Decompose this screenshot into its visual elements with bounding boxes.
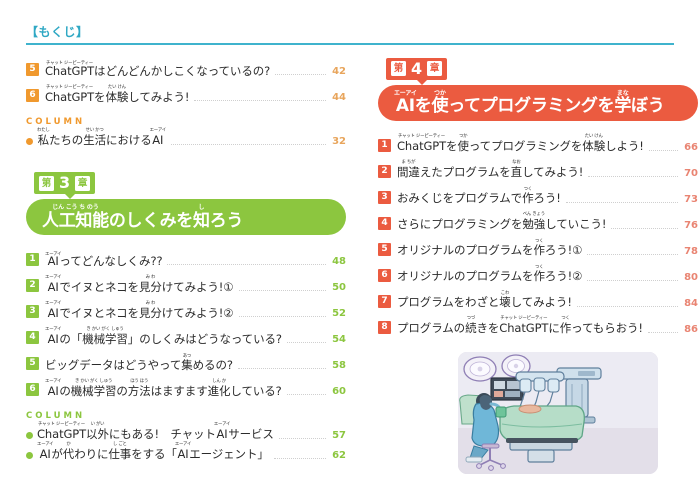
toc-entry[interactable]: 5 オリジナルのプログラムを作つくろう!① 78 (378, 236, 698, 259)
entry-title: オリジナルのプログラムを作つくろう!② (397, 265, 582, 285)
toc-entry[interactable]: 5 ChatGPTチャット ジーピーティーはどんどんかしこくなっているの? 42 (26, 56, 346, 79)
chapter-4-entry-list: 1 ChatGPTチャット ジーピーティーを使つかってプログラミングを体験たい … (378, 132, 698, 337)
leader-dots (648, 331, 678, 333)
toc-entry[interactable]: 2 AIエーアイでイヌとネコを見分み わけてみよう!① 50 (26, 272, 346, 295)
chapter-badge: 第 3 章 (34, 172, 95, 194)
entry-page-number: 84 (682, 299, 698, 311)
entry-title: プログラムの続つづきをChatGPTチャット ジーピーティーに作つくってもらおう… (397, 316, 643, 337)
entry-title: ChatGPTチャット ジーピーティーはどんどんかしこくなっているの? (45, 61, 270, 80)
entry-title: ビッグデータはどうやって集あつめるの? (45, 354, 233, 374)
toc-entry[interactable]: 1 ChatGPTチャット ジーピーティーを使つかってプログラミングを体験たい … (378, 132, 698, 155)
chapter-banner: 人工知能じん こう ち のうのしくみを知しろう (26, 199, 346, 235)
leader-dots (566, 201, 678, 203)
entry-title: 間違ま ちがえたプログラムを直なおしてみよう! (397, 160, 583, 181)
entry-title: ChatGPTチャット ジーピーティーを使つかってプログラミングを体験たい けん… (397, 134, 644, 155)
entry-number: 4 (26, 331, 39, 344)
entry-title: オリジナルのプログラムを作つくろう!① (397, 239, 582, 259)
entry-title: AIエーアイってどんなしくみ?? (45, 252, 162, 270)
entry-number: 2 (378, 165, 391, 178)
entry-number: 5 (26, 357, 39, 370)
entry-title: AIエーアイの機械学習き かい がく しゅうの方法ほう ほうはますます進化しん … (45, 379, 282, 400)
entry-number: 4 (378, 217, 391, 230)
entry-page-number: 58 (330, 361, 346, 373)
chapter-title: AIエーアイを使つかってプログラミングを学まなぼう (394, 90, 664, 115)
leader-dots (239, 289, 327, 291)
wall-monitor-icon (491, 378, 523, 400)
entry-page-number: 48 (330, 257, 346, 269)
column-entry[interactable]: ChatGPTチャット ジーピーティー以外い がいにもある! チャットAIエーア… (26, 424, 346, 443)
entry-number: 5 (378, 243, 391, 256)
entry-title: 私わたしたちの生活せい かつにおけるAIエーアイ (37, 128, 166, 149)
column-block-green: COLUMN ChatGPTチャット ジーピーティー以外い がいにもある! チャ… (26, 412, 346, 463)
toc-entry[interactable]: 6 オリジナルのプログラムを作つくろう!② 80 (378, 262, 698, 285)
toc-entry[interactable]: 2 間違ま ちがえたプログラムを直なおしてみよう! 70 (378, 158, 698, 181)
toc-entry[interactable]: 5 ビッグデータはどうやって集あつめるの? 58 (26, 350, 346, 373)
leader-dots (649, 149, 678, 151)
entry-page-number: 42 (330, 67, 346, 79)
toc-header: 【もくじ】 (26, 26, 674, 45)
entry-page-number: 70 (682, 169, 698, 181)
chapter-kanji-shou: 章 (75, 176, 90, 191)
entry-title: AIエーアイでイヌとネコを見分み わけてみよう!① (45, 275, 234, 296)
chapter-number: 3 (59, 175, 70, 191)
entry-page-number: 32 (330, 137, 346, 149)
toc-entry[interactable]: 8 プログラムの続つづきをChatGPTチャット ジーピーティーに作つくってもら… (378, 314, 698, 337)
entry-number: 3 (378, 191, 391, 204)
toc-entry[interactable]: 1 AIエーアイってどんなしくみ?? 48 (26, 246, 346, 269)
entry-page-number: 73 (682, 195, 698, 207)
column-label: COLUMN (26, 118, 346, 127)
chapter-kanji-dai: 第 (39, 176, 54, 191)
leader-dots (274, 457, 326, 459)
leader-dots (275, 73, 326, 75)
entry-page-number: 76 (682, 221, 698, 233)
leader-dots (194, 99, 326, 101)
leader-dots (577, 305, 678, 307)
leader-dots (587, 279, 678, 281)
entry-number: 2 (26, 279, 39, 292)
entry-page-number: 44 (330, 93, 346, 105)
bullet-icon (26, 452, 33, 459)
leader-dots (588, 175, 678, 177)
leader-dots (587, 253, 678, 255)
entry-title: プログラムをわざと壊こわしてみよう! (397, 291, 572, 311)
entry-number: 8 (378, 321, 391, 334)
toc-entry[interactable]: 3 AIエーアイでイヌとネコを見分み わけてみよう!② 52 (26, 298, 346, 321)
entry-number: 1 (26, 253, 39, 266)
leader-dots (167, 263, 326, 265)
leader-dots (287, 341, 326, 343)
chapter-block-4: 第 4 章 AIエーアイを使つかってプログラミングを学まなぼう 1 ChatGP… (378, 56, 698, 337)
entry-number: 6 (378, 269, 391, 282)
entry-title: ChatGPTチャット ジーピーティーを体験たい けんしてみよう! (45, 85, 189, 106)
entry-page-number: 86 (682, 325, 698, 337)
entry-title: おみくじをプログラムで作つくろう! (397, 187, 561, 207)
leader-dots (239, 315, 327, 317)
entry-page-number: 78 (682, 247, 698, 259)
column-entry[interactable]: 私わたしたちの生活せい かつにおけるAIエーアイ 32 (26, 130, 346, 149)
entry-number: 6 (26, 383, 39, 396)
toc-entry[interactable]: 7 プログラムをわざと壊こわしてみよう! 84 (378, 288, 698, 311)
entry-page-number: 57 (330, 431, 346, 443)
leader-dots (279, 437, 326, 439)
entry-page-number: 54 (330, 335, 346, 347)
toc-entry[interactable]: 6 AIエーアイの機械学習き かい がく しゅうの方法ほう ほうはますます進化し… (26, 376, 346, 399)
left-column: 5 ChatGPTチャット ジーピーティーはどんどんかしこくなっているの? 42… (26, 56, 346, 464)
chapter-3-entry-list: 1 AIエーアイってどんなしくみ?? 48 2 AIエーアイでイヌとネコを見分み… (26, 246, 346, 399)
chapter-block-3: 第 3 章 人工知能じん こう ち のうのしくみを知しろう 1 AIエーアイって… (26, 171, 346, 463)
entry-page-number: 50 (330, 283, 346, 295)
column-block-orange: COLUMN 私わたしたちの生活せい かつにおけるAIエーアイ 32 (26, 118, 346, 149)
entry-number: 6 (26, 89, 39, 102)
chapter-badge: 第 4 章 (386, 58, 447, 80)
entry-page-number: 66 (682, 143, 698, 155)
entry-title: AIエーアイでイヌとネコを見分み わけてみよう!② (45, 301, 234, 322)
entry-number: 5 (26, 63, 39, 76)
entry-number: 3 (26, 305, 39, 318)
entry-page-number: 52 (330, 309, 346, 321)
leader-dots (238, 367, 326, 369)
toc-entry[interactable]: 4 さらにプログラミングを勉強べん きょうしていこう! 76 (378, 210, 698, 233)
badge-pointer (416, 79, 428, 85)
entry-title: さらにプログラミングを勉強べん きょうしていこう! (397, 212, 606, 233)
entry-page-number: 60 (330, 387, 346, 399)
leader-dots (171, 143, 326, 145)
page-title: 【もくじ】 (26, 26, 674, 38)
chapter-number: 4 (411, 61, 422, 77)
toc-entry[interactable]: 3 おみくじをプログラムで作つくろう! 73 (378, 184, 698, 207)
chapter-kanji-dai: 第 (391, 61, 406, 76)
header-divider (26, 43, 674, 45)
entry-title: AIエーアイの「機械学習き かい がく しゅう」のしくみはどうなっている? (45, 327, 282, 348)
bullet-icon (26, 138, 33, 145)
continued-entry-list: 5 ChatGPTチャット ジーピーティーはどんどんかしこくなっているの? 42… (26, 56, 346, 105)
entry-page-number: 80 (682, 273, 698, 285)
surgical-robot-illustration (458, 352, 658, 474)
chapter-title: 人工知能じん こう ち のうのしくみを知しろう (42, 204, 243, 230)
toc-entry[interactable]: 4 AIエーアイの「機械学習き かい がく しゅう」のしくみはどうなっている? … (26, 324, 346, 347)
entry-number: 1 (378, 139, 391, 152)
entry-number: 7 (378, 295, 391, 308)
right-column: 第 4 章 AIエーアイを使つかってプログラミングを学まなぼう 1 ChatGP… (378, 56, 698, 340)
column-label: COLUMN (26, 412, 346, 421)
chapter-kanji-shou: 章 (427, 61, 442, 76)
badge-pointer (64, 193, 76, 199)
entry-page-number: 62 (330, 451, 346, 463)
toc-entry[interactable]: 6 ChatGPTチャット ジーピーティーを体験たい けんしてみよう! 44 (26, 82, 346, 105)
leader-dots (611, 227, 678, 229)
entry-title: ChatGPTチャット ジーピーティー以外い がいにもある! チャットAIエーア… (37, 422, 274, 443)
bullet-icon (26, 432, 33, 439)
entry-title: AIエーアイが代かわりに仕事し ごとをする「AIエーアイエージェント」 (37, 442, 269, 463)
chapter-banner: AIエーアイを使つかってプログラミングを学まなぼう (378, 85, 698, 121)
toc-page: 【もくじ】 5 ChatGPTチャット ジーピーティーはどんどんかしこくなってい… (0, 0, 700, 497)
column-entry[interactable]: AIエーアイが代かわりに仕事し ごとをする「AIエーアイエージェント」 62 (26, 444, 346, 463)
leader-dots (287, 393, 326, 395)
